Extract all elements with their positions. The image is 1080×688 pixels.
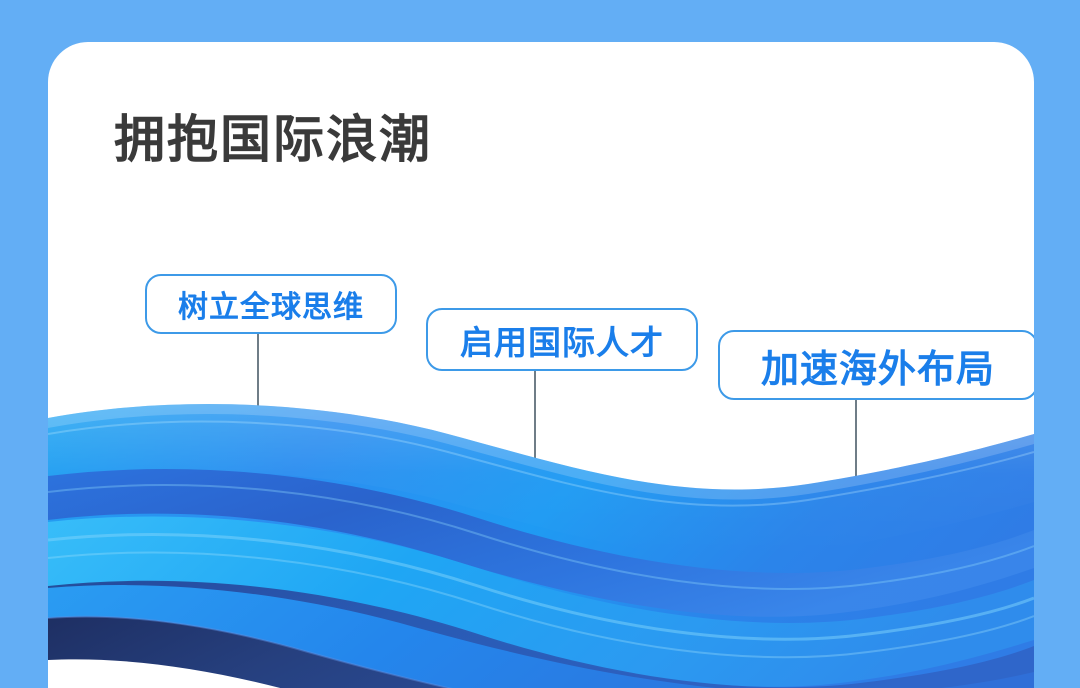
- wave-ribbon-dark-1: [48, 469, 1034, 617]
- wave-bottom-band: [48, 372, 1034, 688]
- wave-layer-top: [48, 404, 1034, 688]
- wave-streak-1: [48, 535, 1034, 640]
- wave-ribbon-mid-2: [48, 620, 1034, 688]
- badge-label: 加速海外布局: [761, 338, 995, 393]
- wave-streak-3: [48, 485, 1034, 589]
- wave-foreground-band: [48, 552, 1034, 688]
- wave-streak-2: [48, 553, 1034, 658]
- poster-canvas: 拥抱国际浪潮 树立全球思维 启用国际人才 加速海外布局: [0, 0, 1080, 688]
- wave-ribbon-deep-1: [48, 581, 1034, 688]
- badge-overseas-expansion[interactable]: 加速海外布局: [718, 330, 1034, 400]
- wave-white-floor: [48, 659, 608, 688]
- connector-line-1: [257, 334, 259, 454]
- wave-crest-sheen: [48, 404, 1034, 558]
- wave-ribbon-bright-1: [48, 517, 1034, 687]
- wave-fg-navy: [48, 617, 1034, 688]
- page-title: 拥抱国际浪潮: [114, 114, 432, 165]
- connector-line-3: [855, 400, 857, 592]
- wave-ribbon-bright-2: [48, 666, 1034, 688]
- badge-global-mindset[interactable]: 树立全球思维: [145, 274, 397, 334]
- badge-label: 树立全球思维: [178, 282, 364, 326]
- wave-fg-blue: [48, 585, 1034, 688]
- badge-label: 启用国际人才: [460, 316, 664, 364]
- wave-navy-mid: [48, 608, 1034, 688]
- connector-line-2: [534, 371, 536, 521]
- wave-streak-4: [48, 422, 1034, 506]
- wave-fg-navy-edge: [48, 617, 1034, 688]
- badge-international-talent[interactable]: 启用国际人才: [426, 308, 698, 371]
- white-card: 拥抱国际浪潮 树立全球思维 启用国际人才 加速海外布局: [48, 42, 1034, 688]
- wave-crest-light: [48, 404, 1034, 500]
- blue-wave-illustration: [48, 372, 1034, 688]
